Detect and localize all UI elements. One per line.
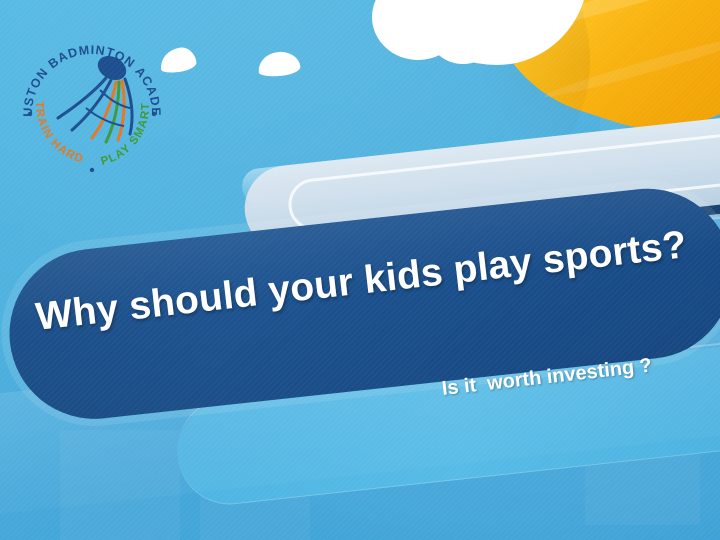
presentation-slide: Why should your kids play sports? Is it … [0, 0, 720, 540]
shuttlecock-icon [58, 51, 132, 142]
cloud-bubble-small [476, 32, 483, 39]
logo-arc-left-text: TRAIN HARD [33, 101, 85, 166]
cloud-bubble-large [478, 43, 492, 57]
logo-dot-left [28, 112, 32, 116]
logo-dot-bottom [90, 168, 94, 172]
academy-logo: HOUSTON BADMINTON ACADEMY TRAIN HARD PLA… [14, 22, 170, 178]
logo-svg: HOUSTON BADMINTON ACADEMY TRAIN HARD PLA… [14, 22, 170, 178]
logo-dot-right [152, 112, 156, 116]
